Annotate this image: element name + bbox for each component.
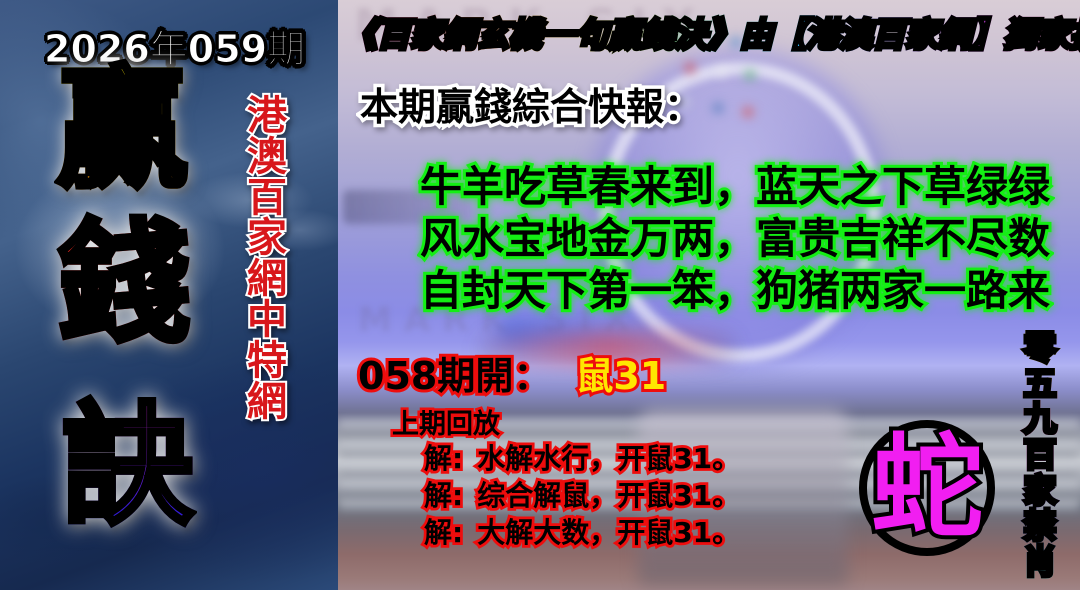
previous-result-value: 鼠31: [575, 354, 666, 398]
headline-text: 本期贏錢綜合快報：: [360, 76, 702, 131]
forbidden-zodiac-vertical: 零 五 九 百 家 禁 肖: [1012, 330, 1068, 579]
site-name-char: 中: [236, 300, 298, 341]
site-name-char: 網: [236, 382, 298, 423]
big-glyph-secret: 訣: [62, 400, 194, 532]
top-banner-title: 《百家網玄機一句贏錢決》由【港澳百家網】獨家提供: [344, 8, 1080, 56]
replay-row-key: 解:: [424, 516, 463, 549]
forbidden-zodiac-char: 零: [1012, 330, 1068, 366]
site-name-char: 家: [236, 218, 298, 259]
replay-row: 解:综合解鼠，开鼠31。: [424, 474, 740, 514]
previous-result-label: 058期開：: [358, 354, 551, 398]
zodiac-character: 蛇: [859, 418, 995, 558]
forbidden-zodiac-char: 家: [1012, 473, 1068, 509]
site-name-char: 港: [236, 96, 298, 137]
replay-row: 解:大解大数，开鼠31。: [424, 511, 740, 551]
poster-canvas: MARK SIX MARK SIX SIX 六合彩 2026年059期 贏 錢 …: [0, 0, 1080, 590]
forbidden-zodiac-char: 五: [1012, 366, 1068, 402]
replay-row-text: 大解大数，开鼠31。: [477, 516, 740, 549]
forbidden-zodiac-char: 禁: [1012, 508, 1068, 544]
forbidden-zodiac-char: 百: [1012, 437, 1068, 473]
site-name-char: 網: [236, 259, 298, 300]
replay-row: 解:水解水行，开鼠31。: [424, 437, 740, 477]
big-glyph-money: 錢: [58, 218, 190, 350]
replay-section-title: 上期回放: [392, 402, 500, 441]
site-name-char: 特: [236, 341, 298, 382]
replay-row-text: 水解水行，开鼠31。: [477, 442, 740, 475]
site-name-vertical: 港 澳 百 家 網 中 特 網: [236, 96, 298, 422]
replay-row-text: 综合解鼠，开鼠31。: [477, 479, 740, 512]
site-name-char: 百: [236, 178, 298, 219]
site-name-char: 澳: [236, 137, 298, 178]
forbidden-zodiac-char: 九: [1012, 401, 1068, 437]
poem-line: 自封天下第一笨，狗猪两家一路来: [420, 257, 1050, 318]
forbidden-zodiac-char: 肖: [1012, 544, 1068, 580]
big-glyph-win: 贏: [56, 64, 188, 196]
replay-row-key: 解:: [424, 479, 463, 512]
previous-result-line: 058期開：鼠31: [358, 345, 666, 400]
replay-row-key: 解:: [424, 442, 463, 475]
